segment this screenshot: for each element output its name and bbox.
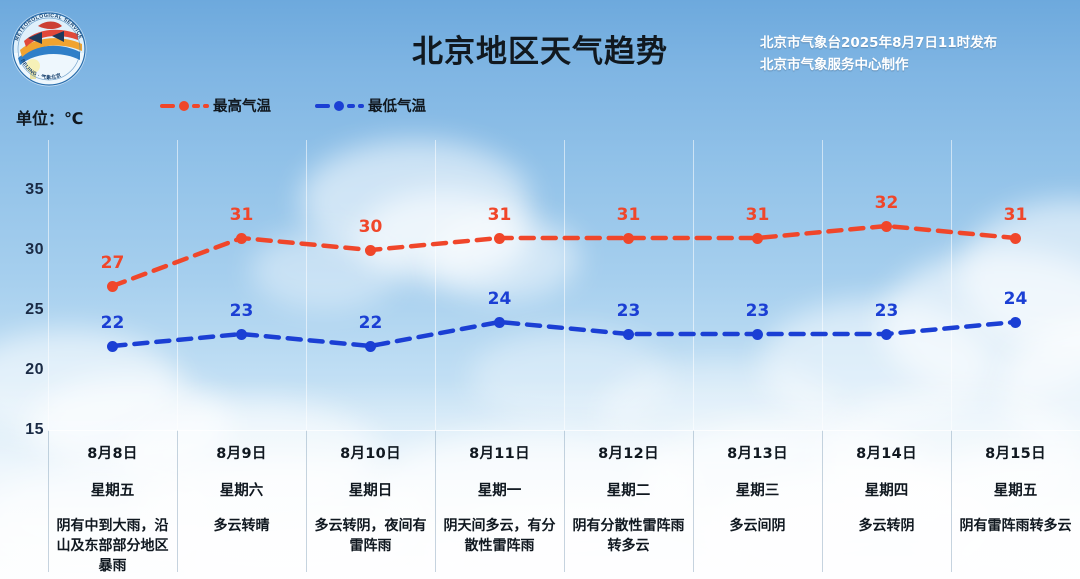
data-point-high[interactable] [1010, 233, 1021, 244]
day-description: 多云转晴 [181, 516, 302, 536]
data-point-high[interactable] [623, 233, 634, 244]
day-weekday: 星期二 [568, 479, 689, 500]
legend-item-high[interactable]: 最高气温 [160, 95, 271, 116]
gridline-vertical [177, 140, 178, 430]
data-point-low[interactable] [365, 341, 376, 352]
data-point-low[interactable] [623, 329, 634, 340]
data-point-low[interactable] [494, 317, 505, 328]
gridline-vertical [48, 140, 49, 430]
day-description: 阴有雷阵雨转多云 [955, 516, 1076, 536]
day-date: 8月8日 [52, 442, 173, 463]
legend-line-low [315, 99, 363, 113]
data-label-low: 24 [1004, 289, 1028, 309]
gridline-vertical [306, 140, 307, 430]
data-label-high: 31 [1004, 205, 1028, 225]
issue-line-2: 北京市气象服务中心制作 [760, 54, 997, 76]
day-description: 多云转阴，夜间有雷阵雨 [310, 516, 431, 556]
data-label-low: 22 [359, 313, 383, 333]
gridline-vertical [693, 140, 694, 430]
issue-info: 北京市气象台2025年8月7日11时发布 北京市气象服务中心制作 [760, 32, 997, 76]
data-label-low: 23 [746, 301, 770, 321]
data-point-high[interactable] [107, 281, 118, 292]
day-column[interactable]: 8月12日星期二阴有分散性雷阵雨转多云 [564, 430, 693, 579]
data-label-high: 31 [746, 205, 770, 225]
data-point-low[interactable] [1010, 317, 1021, 328]
y-axis-tick-label: 25 [0, 301, 44, 319]
weather-trend-chart: METEOROLOGICAL SERVICE BEIJING · 气象北京 北京… [0, 0, 1080, 579]
day-column[interactable]: 8月8日星期五阴有中到大雨，沿山及东部部分地区暴雨 [48, 430, 177, 579]
gridline-vertical [822, 140, 823, 430]
data-point-low[interactable] [107, 341, 118, 352]
data-point-low[interactable] [881, 329, 892, 340]
unit-label: 单位：℃ [16, 105, 83, 129]
data-point-high[interactable] [752, 233, 763, 244]
day-weekday: 星期四 [826, 479, 947, 500]
data-label-low: 23 [230, 301, 254, 321]
legend-label-low: 最低气温 [368, 95, 426, 116]
day-column[interactable]: 8月9日星期六多云转晴 [177, 430, 306, 579]
day-weekday: 星期一 [439, 479, 560, 500]
y-axis-tick-label: 15 [0, 421, 44, 439]
day-weekday: 星期三 [697, 479, 818, 500]
chart-legend: 最高气温 最低气温 [160, 95, 426, 116]
day-weekday: 星期日 [310, 479, 431, 500]
day-date: 8月14日 [826, 442, 947, 463]
data-label-high: 30 [359, 217, 383, 237]
data-point-high[interactable] [881, 221, 892, 232]
legend-label-high: 最高气温 [213, 95, 271, 116]
y-axis-tick-label: 20 [0, 361, 44, 379]
day-column[interactable]: 8月15日星期五阴有雷阵雨转多云 [951, 430, 1080, 579]
data-label-low: 23 [875, 301, 899, 321]
day-weekday: 星期六 [181, 479, 302, 500]
gridline-vertical [564, 140, 565, 430]
legend-item-low[interactable]: 最低气温 [315, 95, 426, 116]
data-label-high: 32 [875, 193, 899, 213]
day-column[interactable]: 8月11日星期一阴天间多云，有分散性雷阵雨 [435, 430, 564, 579]
day-column[interactable]: 8月13日星期三多云间阴 [693, 430, 822, 579]
day-weekday: 星期五 [955, 479, 1076, 500]
data-label-low: 24 [488, 289, 512, 309]
day-weekday: 星期五 [52, 479, 173, 500]
day-description: 多云转阴 [826, 516, 947, 536]
data-point-high[interactable] [494, 233, 505, 244]
day-description: 阴有分散性雷阵雨转多云 [568, 516, 689, 556]
data-point-low[interactable] [236, 329, 247, 340]
day-column[interactable]: 8月10日星期日多云转阴，夜间有雷阵雨 [306, 430, 435, 579]
gridline-vertical [435, 140, 436, 430]
data-label-high: 27 [101, 253, 125, 273]
day-description: 阴天间多云，有分散性雷阵雨 [439, 516, 560, 556]
day-date: 8月13日 [697, 442, 818, 463]
day-date: 8月9日 [181, 442, 302, 463]
day-forecast-table: 8月8日星期五阴有中到大雨，沿山及东部部分地区暴雨8月9日星期六多云转晴8月10… [48, 430, 1080, 579]
data-label-high: 31 [230, 205, 254, 225]
data-label-high: 31 [617, 205, 641, 225]
data-label-low: 23 [617, 301, 641, 321]
y-axis-tick-label: 35 [0, 181, 44, 199]
day-description: 多云间阴 [697, 516, 818, 536]
data-point-high[interactable] [365, 245, 376, 256]
data-point-high[interactable] [236, 233, 247, 244]
day-column[interactable]: 8月14日星期四多云转阴 [822, 430, 951, 579]
day-date: 8月15日 [955, 442, 1076, 463]
legend-line-high [160, 99, 208, 113]
day-description: 阴有中到大雨，沿山及东部部分地区暴雨 [52, 516, 173, 576]
data-point-low[interactable] [752, 329, 763, 340]
day-date: 8月12日 [568, 442, 689, 463]
y-axis-tick-label: 30 [0, 241, 44, 259]
gridline-vertical [951, 140, 952, 430]
day-date: 8月10日 [310, 442, 431, 463]
day-date: 8月11日 [439, 442, 560, 463]
data-label-high: 31 [488, 205, 512, 225]
data-label-low: 22 [101, 313, 125, 333]
issue-line-1: 北京市气象台2025年8月7日11时发布 [760, 32, 997, 54]
